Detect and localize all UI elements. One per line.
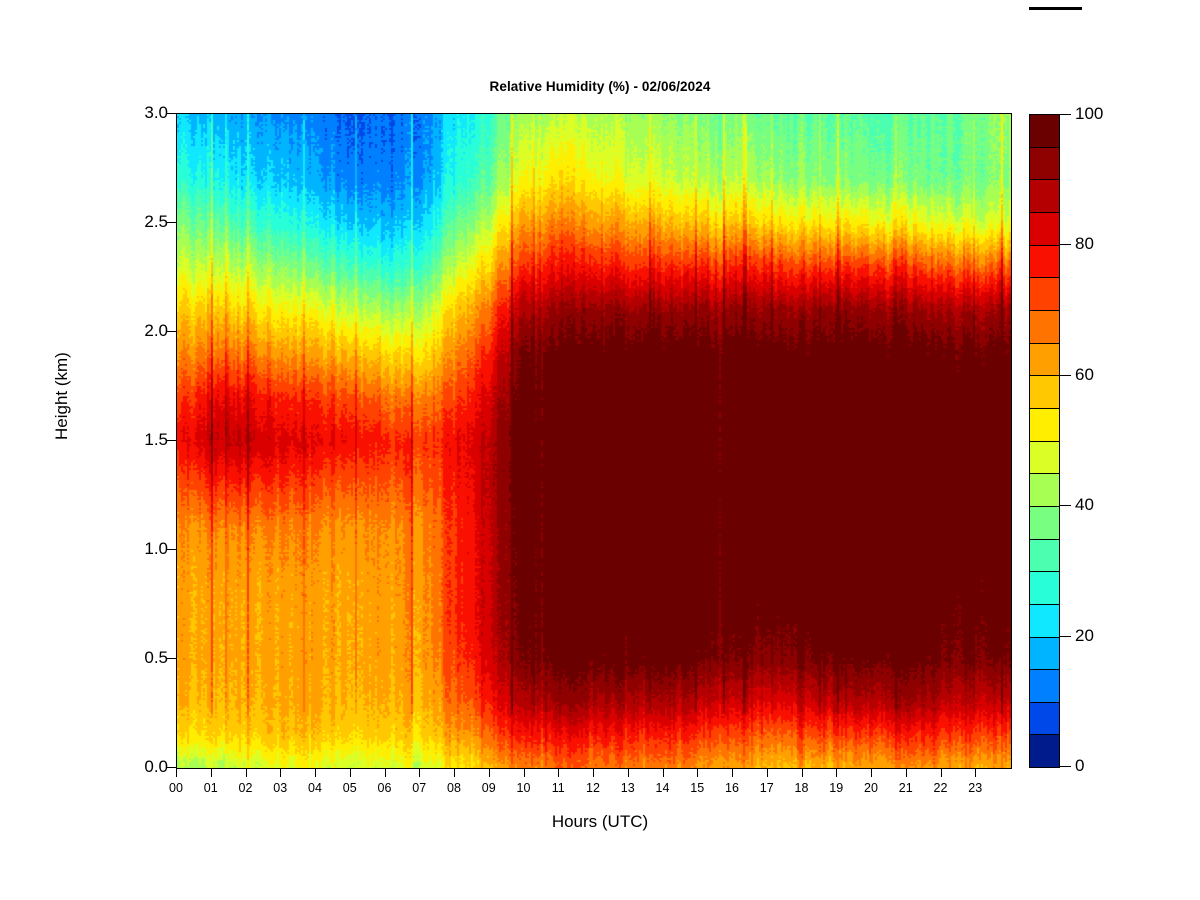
colorbar-band-19 xyxy=(1030,735,1059,767)
colorbar-band-9 xyxy=(1030,409,1059,442)
x-tick-label: 23 xyxy=(955,781,995,795)
colorbar-band-18 xyxy=(1030,703,1059,736)
x-tick-mark xyxy=(176,768,177,777)
x-tick-mark xyxy=(836,768,837,777)
colorbar-band-8 xyxy=(1030,376,1059,409)
colorbar-band-7 xyxy=(1030,344,1059,377)
x-tick-mark xyxy=(454,768,455,777)
y-tick-label: 0.0 xyxy=(78,757,168,777)
colorbar-band-1 xyxy=(1030,148,1059,181)
y-tick-mark xyxy=(167,767,176,768)
colorbar-band-10 xyxy=(1030,442,1059,475)
x-tick-mark xyxy=(628,768,629,777)
y-tick-mark xyxy=(167,113,176,114)
y-axis-label: Height (km) xyxy=(52,352,72,440)
x-tick-mark xyxy=(767,768,768,777)
y-tick-label: 0.5 xyxy=(78,648,168,668)
y-tick-label: 1.0 xyxy=(78,539,168,559)
y-tick-mark xyxy=(167,440,176,441)
colorbar-tick-mark xyxy=(1060,505,1071,506)
colorbar-band-17 xyxy=(1030,670,1059,703)
colorbar-tick-label: 0 xyxy=(1075,756,1084,776)
colorbar-tick-label: 100 xyxy=(1075,104,1103,124)
colorbar-tick-mark xyxy=(1060,375,1071,376)
x-tick-mark xyxy=(663,768,664,777)
y-tick-label: 2.0 xyxy=(78,321,168,341)
x-axis-label: Hours (UTC) xyxy=(0,812,1200,832)
y-tick-mark xyxy=(167,549,176,550)
x-tick-mark xyxy=(246,768,247,777)
heatmap-plot-area[interactable] xyxy=(176,113,1012,769)
y-tick-mark xyxy=(167,331,176,332)
colorbar-band-4 xyxy=(1030,246,1059,279)
y-tick-mark xyxy=(167,658,176,659)
colorbar-band-12 xyxy=(1030,507,1059,540)
x-tick-mark xyxy=(385,768,386,777)
x-tick-mark xyxy=(697,768,698,777)
x-tick-mark xyxy=(906,768,907,777)
x-tick-mark xyxy=(350,768,351,777)
x-tick-mark xyxy=(941,768,942,777)
colorbar-band-0 xyxy=(1030,115,1059,148)
heatmap-canvas xyxy=(177,114,1011,768)
y-tick-mark xyxy=(167,222,176,223)
x-tick-mark xyxy=(489,768,490,777)
x-tick-mark xyxy=(558,768,559,777)
colorbar-band-15 xyxy=(1030,605,1059,638)
colorbar-band-5 xyxy=(1030,278,1059,311)
x-tick-mark xyxy=(593,768,594,777)
colorbar-tick-label: 60 xyxy=(1075,365,1094,385)
figure-canvas: Relative Humidity (%) - 02/06/2024 0.00.… xyxy=(0,0,1200,900)
colorbar-band-14 xyxy=(1030,572,1059,605)
x-tick-mark xyxy=(802,768,803,777)
colorbar-tick-mark xyxy=(1060,244,1071,245)
top-rule-artifact xyxy=(1029,7,1082,10)
x-tick-mark xyxy=(871,768,872,777)
x-tick-mark xyxy=(975,768,976,777)
colorbar-band-3 xyxy=(1030,213,1059,246)
page-title: Relative Humidity (%) - 02/06/2024 xyxy=(0,79,1200,94)
colorbar-tick-label: 20 xyxy=(1075,626,1094,646)
colorbar-tick-label: 80 xyxy=(1075,234,1094,254)
colorbar-band-13 xyxy=(1030,540,1059,573)
colorbar-tick-mark xyxy=(1060,766,1071,767)
colorbar-tick-mark xyxy=(1060,114,1071,115)
x-tick-mark xyxy=(280,768,281,777)
colorbar-tick-mark xyxy=(1060,636,1071,637)
colorbar-band-6 xyxy=(1030,311,1059,344)
colorbar-band-16 xyxy=(1030,638,1059,671)
y-tick-label: 3.0 xyxy=(78,103,168,123)
x-tick-mark xyxy=(211,768,212,777)
x-tick-mark xyxy=(524,768,525,777)
x-tick-mark xyxy=(315,768,316,777)
x-tick-mark xyxy=(419,768,420,777)
colorbar-band-2 xyxy=(1030,180,1059,213)
colorbar-tick-label: 40 xyxy=(1075,495,1094,515)
colorbar-band-11 xyxy=(1030,474,1059,507)
y-tick-label: 1.5 xyxy=(78,430,168,450)
colorbar[interactable] xyxy=(1029,114,1060,768)
x-tick-mark xyxy=(732,768,733,777)
y-tick-label: 2.5 xyxy=(78,212,168,232)
